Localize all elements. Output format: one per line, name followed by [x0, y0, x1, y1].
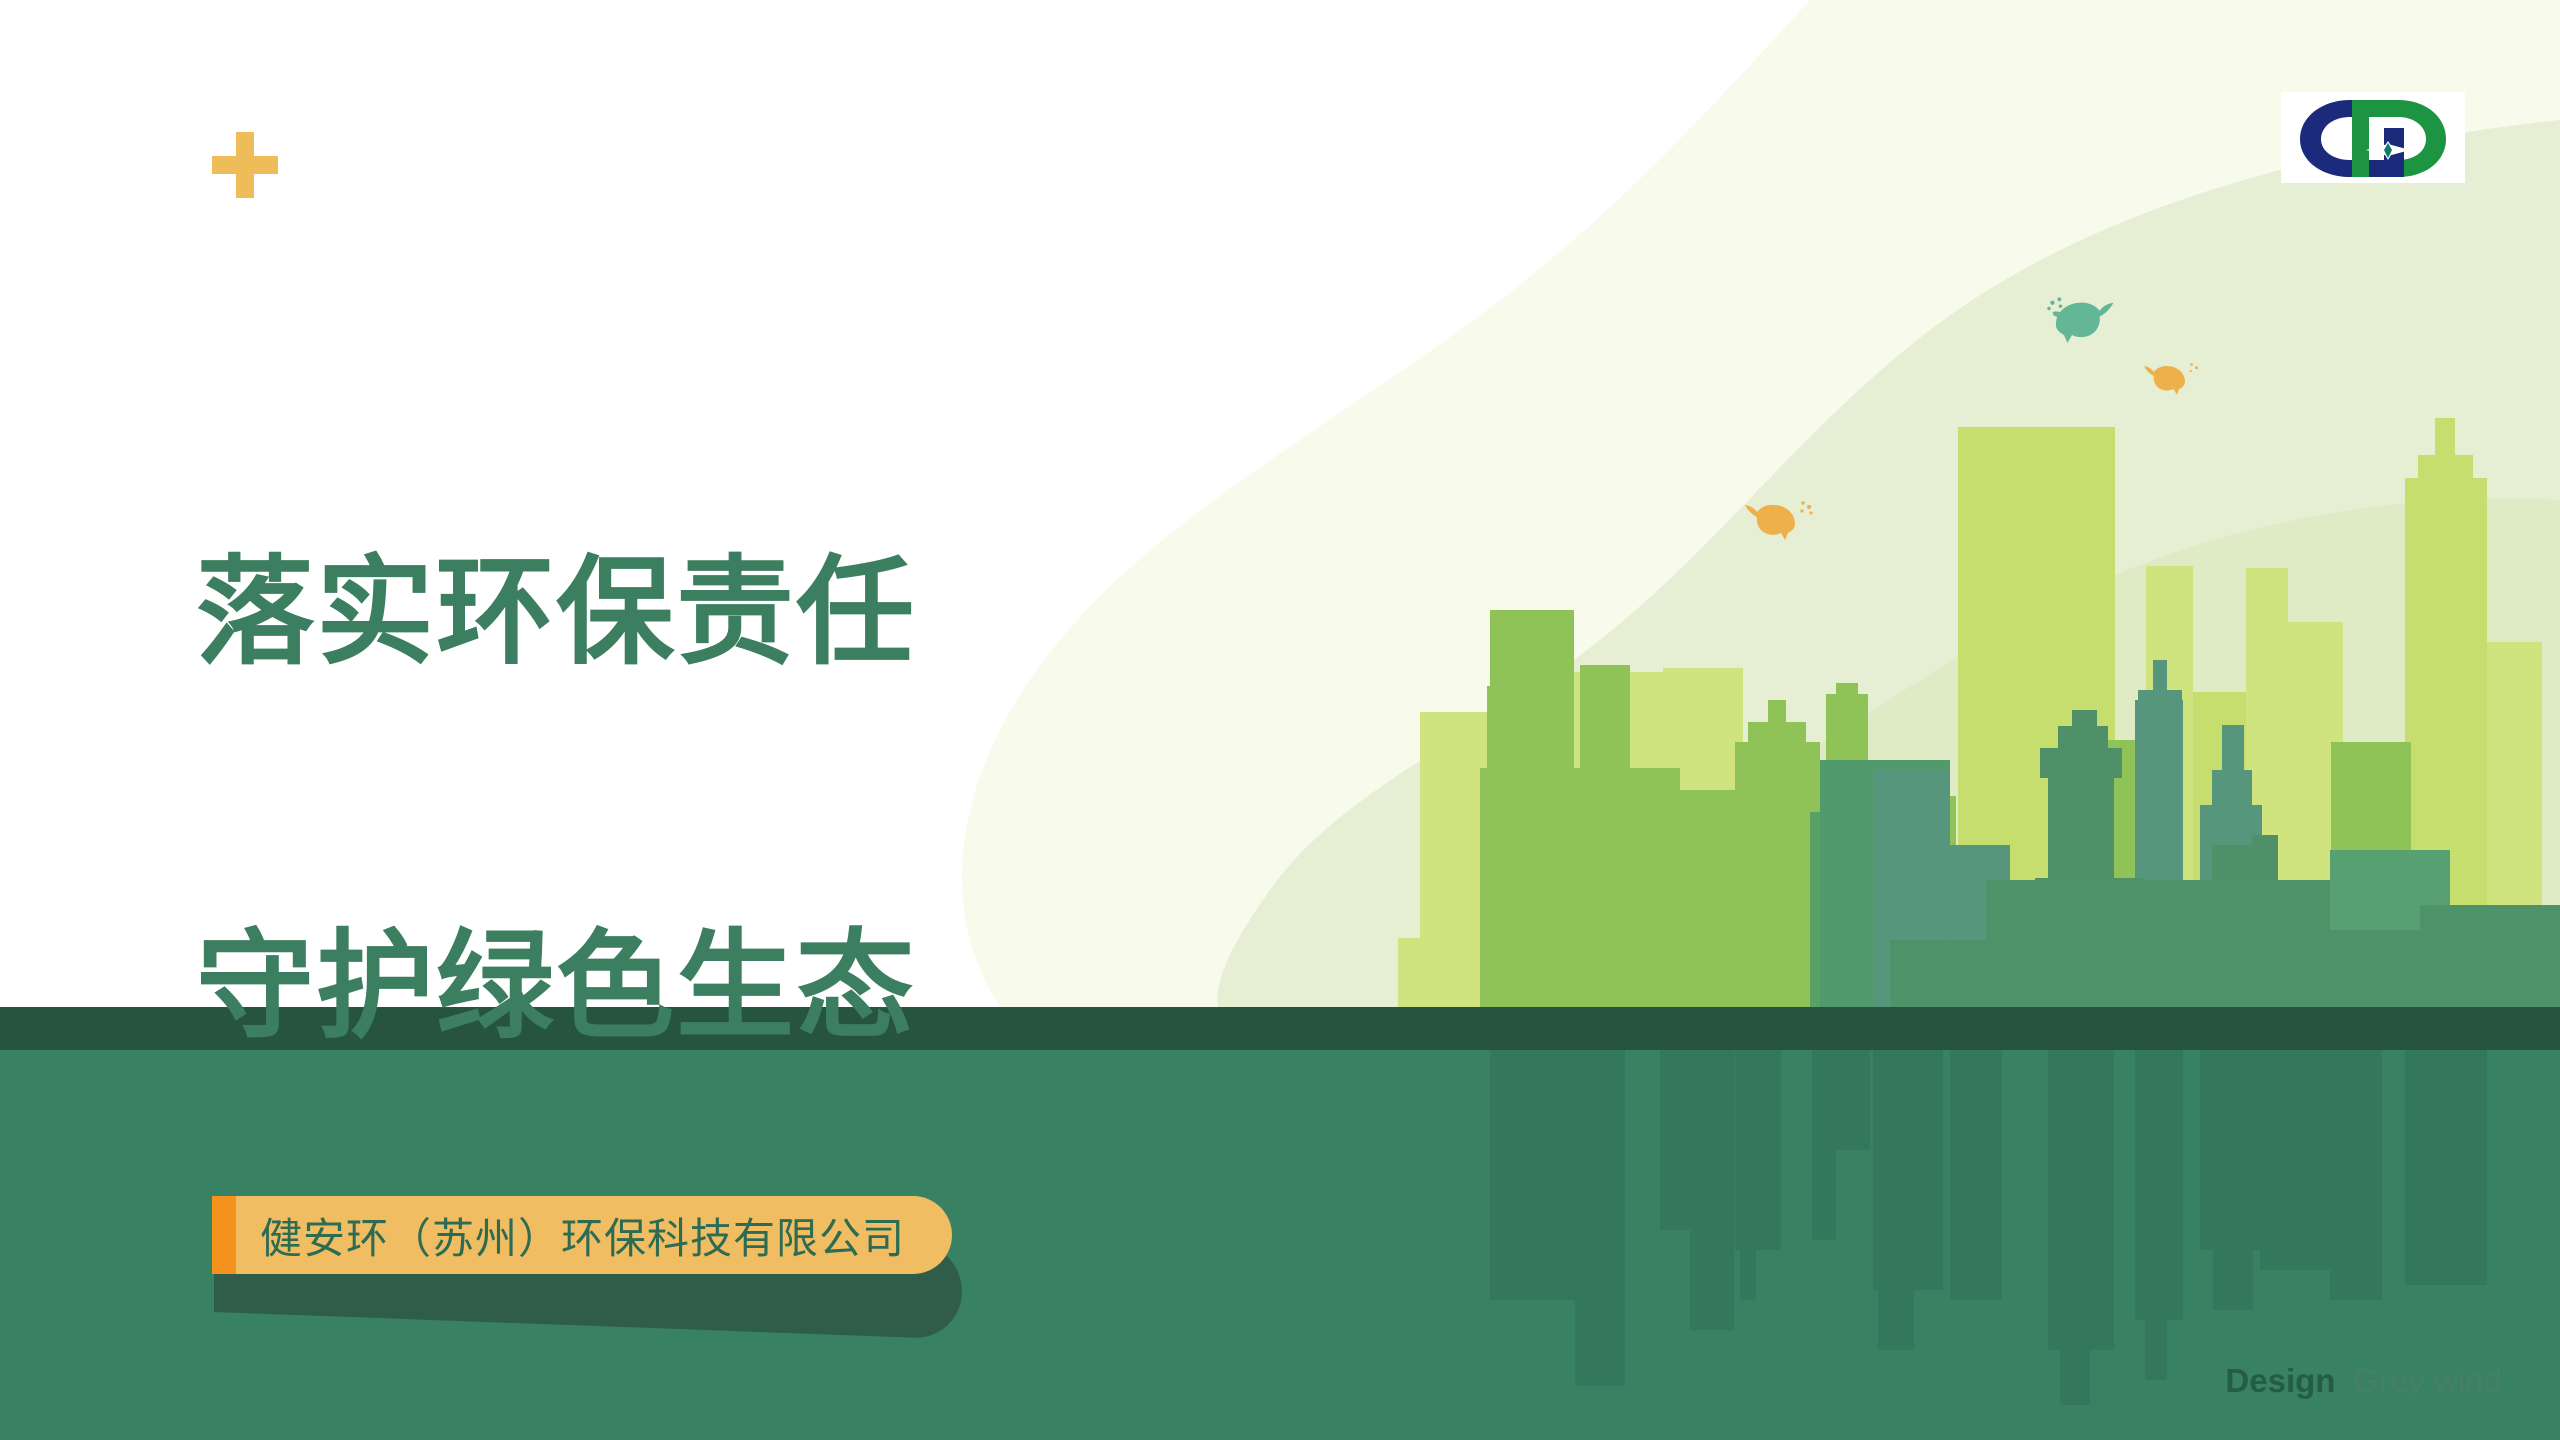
plus-horizontal-bar: [212, 156, 278, 174]
headline-line-1: 落实环保责任: [196, 554, 916, 672]
company-logo: [2281, 92, 2465, 183]
headline-line-2: 守护绿色生态: [196, 928, 916, 1046]
page-title: 落实环保责任 守护绿色生态: [196, 318, 916, 1282]
design-credit: DesignGrey wind: [2225, 1362, 2502, 1400]
company-banner-accent-bar: [212, 1196, 236, 1274]
cover-slide: 落实环保责任 守护绿色生态 健安环（苏州）环保科技有限公司 DesignGrey…: [0, 0, 2560, 1440]
design-credit-author: Grey wind: [2353, 1362, 2502, 1399]
company-banner: 健安环（苏州）环保科技有限公司: [212, 1196, 952, 1274]
plus-icon: [212, 132, 278, 198]
company-name: 健安环（苏州）环保科技有限公司: [260, 1205, 905, 1266]
design-credit-label: Design: [2225, 1362, 2335, 1399]
